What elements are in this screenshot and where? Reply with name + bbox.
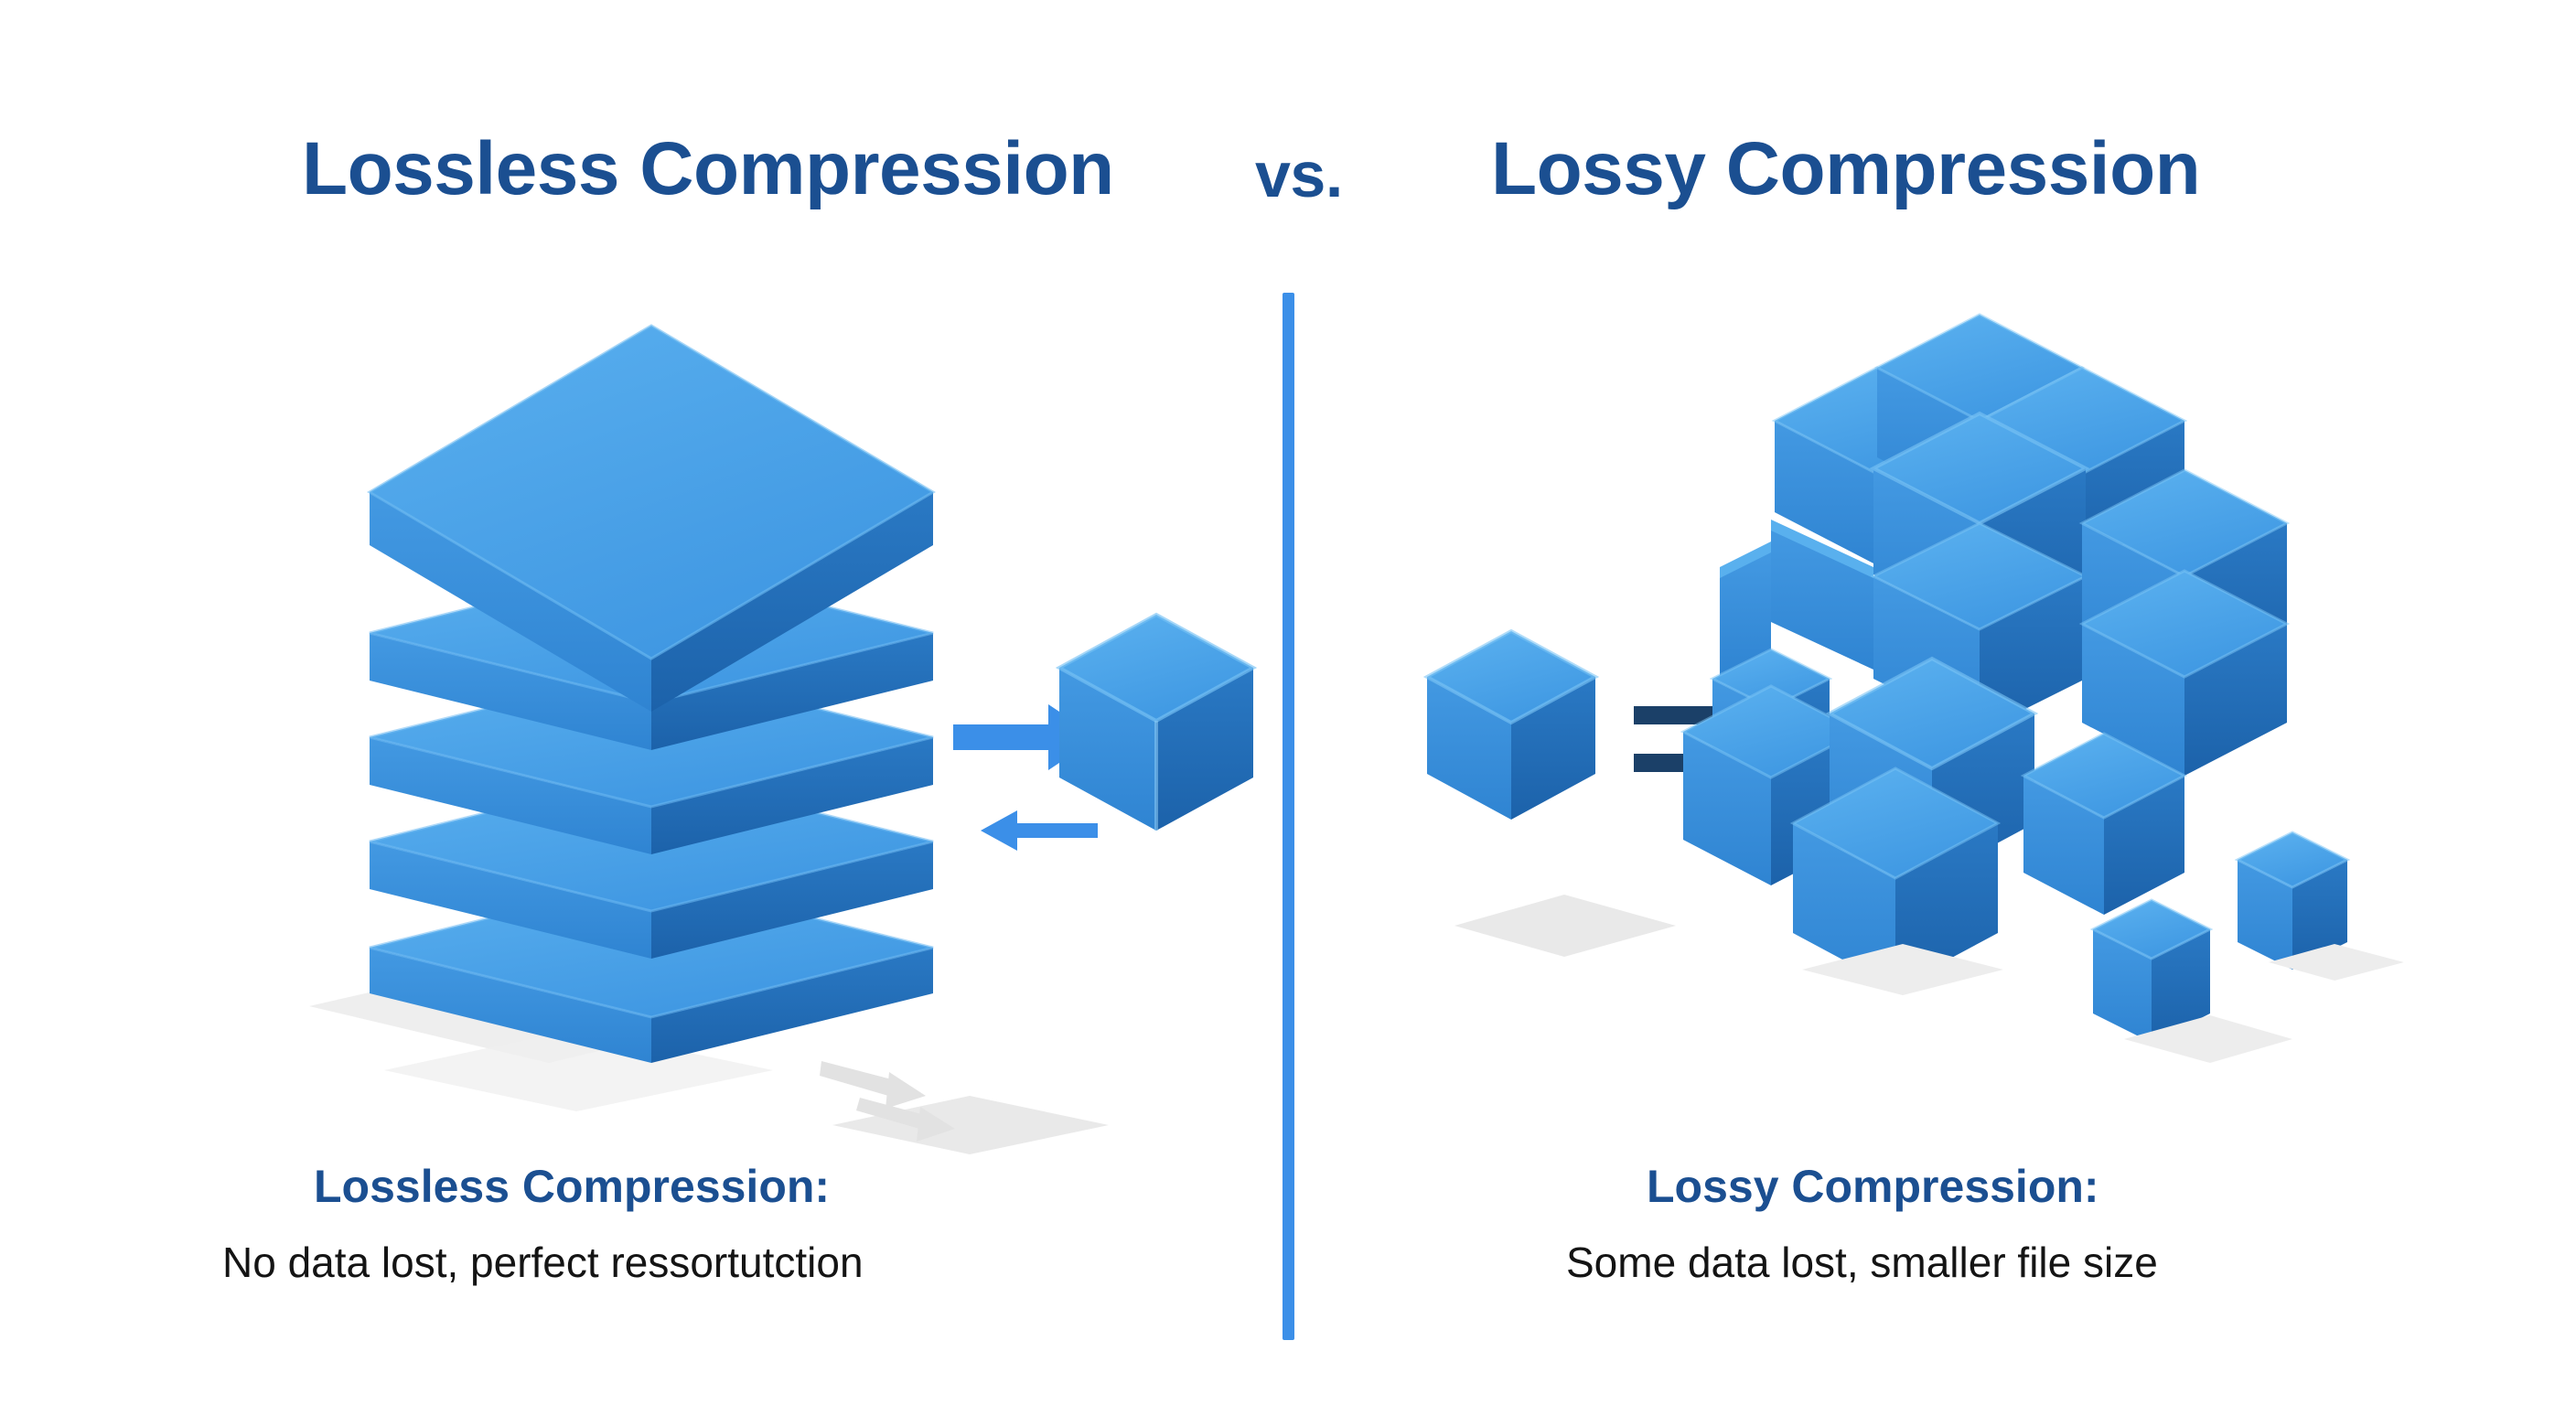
infographic-canvas: Lossless Compression vs. Lossy Compressi… bbox=[0, 0, 2576, 1405]
left-caption-subtext: No data lost, perfect ressortutction bbox=[222, 1241, 864, 1283]
right-caption-heading: Lossy Compression: bbox=[1647, 1164, 2099, 1209]
decompress-arrow bbox=[981, 810, 1098, 851]
page-title-lossy: Lossy Compression bbox=[1491, 132, 2200, 207]
page-title-lossless: Lossless Compression bbox=[302, 132, 1114, 207]
right-caption-subtext: Some data lost, smaller file size bbox=[1566, 1241, 2158, 1283]
ground-shadow-plate bbox=[1454, 895, 1676, 957]
page-title-versus: vs. bbox=[1255, 143, 1343, 207]
source-cube bbox=[1427, 631, 1595, 820]
lossless-diagram bbox=[274, 274, 1262, 1098]
header-title-row: Lossless Compression vs. Lossy Compressi… bbox=[0, 108, 2576, 218]
vertical-divider bbox=[1283, 293, 1294, 1340]
lossy-diagram bbox=[1409, 274, 2506, 1098]
left-caption-heading: Lossless Compression: bbox=[314, 1164, 830, 1209]
compressed-cube bbox=[1059, 615, 1253, 831]
